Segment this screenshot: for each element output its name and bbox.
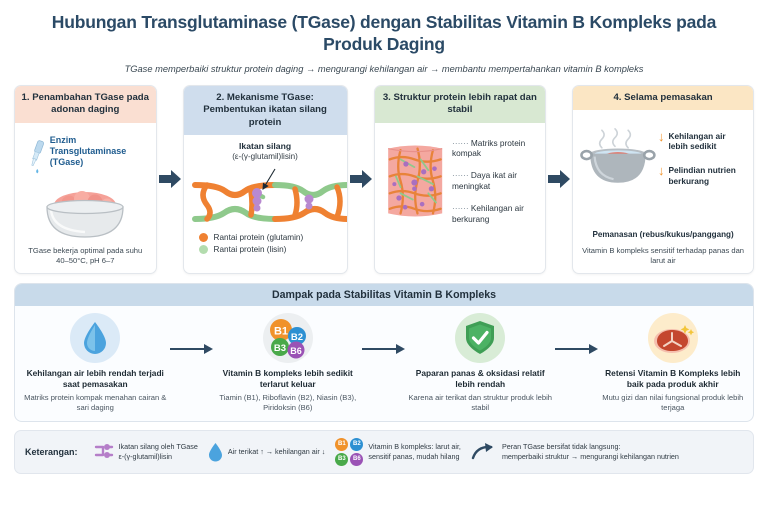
svg-text:B3: B3 [274, 343, 286, 354]
impact-desc: Matriks protein kompak menahan cairan & … [21, 393, 170, 413]
legend-crosslink-line2: ε-(γ-glutamil)lisin [119, 452, 198, 461]
down-arrow-icon: ↓ [658, 165, 665, 177]
impact-title: Vitamin B kompleks lebih sedikit terlaru… [214, 368, 363, 390]
vitamin-chip-b6: B6 [350, 453, 363, 466]
arrow-right-icon [159, 170, 181, 188]
impact-connector-2 [362, 313, 406, 355]
panel-2-heading: 2. Mekanisme TGase: Pembentukan ikatan s… [184, 86, 347, 135]
panel-4-during-cooking: 4. Selama pemasakan [572, 85, 754, 274]
panel-3-note-1: ⋯⋯ Matriks protein kompak [452, 138, 538, 159]
title-block: Hubungan Transglutaminase (TGase) dengan… [0, 0, 768, 75]
water-drop-icon [208, 442, 223, 462]
legend-vitamin-line1: Vitamin B kompleks: larut air, [368, 442, 461, 451]
crosslink-label: Ikatan silang [191, 141, 340, 152]
panel-4-note-1: ↓ Kehilangan air lebih sedikit [658, 131, 746, 152]
arrow-right-icon [548, 170, 570, 188]
impact-title: Retensi Vitamin B Kompleks lebih baik pa… [599, 368, 748, 390]
legend-label-lisin: Rantai protein (lisin) [214, 245, 287, 254]
crosslink-formula: (ε-(γ-glutamil)lisin) [191, 152, 340, 161]
page-title: Hubungan Transglutaminase (TGase) dengan… [40, 11, 728, 56]
connector-1-2 [157, 85, 183, 274]
vitamin-chip-b3: B3 [335, 453, 348, 466]
legend-crosslink-line1: Ikatan silang oleh TGase [119, 442, 198, 451]
impact-desc: Karena air terikat dan struktur produk l… [406, 393, 555, 413]
protein-crosslink-diagram [191, 163, 348, 231]
connector-2-3 [348, 85, 374, 274]
impact-section: Dampak pada Stabilitas Vitamin B Komplek… [14, 283, 754, 422]
arrow-right-icon [555, 343, 599, 355]
water-drop-circle [70, 313, 120, 363]
vitamin-cluster-icon: B1 B2 B3 B6 [267, 317, 309, 359]
impact-item-heat-oxidation: Paparan panas & oksidasi relatif lebih r… [406, 313, 555, 413]
arrow-right-icon [350, 170, 372, 188]
dropper-icon [24, 131, 48, 183]
legend-label-glutamin: Rantai protein (glutamin) [214, 233, 304, 242]
panel-4-note-2: ↓ Pelindian nutrien berkurang [658, 165, 746, 186]
impact-item-final-product: Retensi Vitamin B Kompleks lebih baik pa… [599, 313, 748, 413]
panel-1-caption: TGase bekerja optimal pada suhu 40–50°C,… [22, 243, 149, 266]
enzyme-label: Enzim Transglutaminase (TGase) [50, 131, 149, 169]
vitamin-chip-b1: B1 [335, 438, 348, 451]
panel-1-heading: 1. Penambahan TGase pada adonan daging [15, 86, 156, 123]
stage-row: 1. Penambahan TGase pada adonan daging E… [14, 85, 754, 274]
panel-4-notes: ↓ Kehilangan air lebih sedikit ↓ Pelindi… [658, 131, 746, 186]
legend-item-tgase-role: Peran TGase bersifat tidak langsung: mem… [471, 442, 679, 462]
impact-desc: Mutu gizi dan nilai fungsional produk le… [599, 393, 748, 413]
page-subtitle: TGase memperbaiki struktur protein dagin… [40, 63, 728, 75]
legend-title: Keterangan: [25, 447, 84, 457]
svg-text:B1: B1 [274, 325, 288, 337]
legend-water-text: Air terikat ↑ → kehilangan air ↓ [228, 447, 325, 456]
meat-bowl-icon [37, 179, 133, 243]
panel-3-notes: ⋯⋯ Matriks protein kompak ⋯⋯ Daya ikat a… [452, 138, 538, 224]
water-drop-icon [82, 321, 108, 355]
arrow-right-icon [362, 343, 406, 355]
panel-4-caption-bold: Pemanasan (rebus/kukus/panggang) [580, 227, 746, 241]
impact-title: Kehilangan air lebih rendah terjadi saat… [21, 368, 170, 390]
legend-footer: Keterangan: Ikatan silang oleh TGase ε-(… [14, 430, 754, 474]
legend-role-line1: Peran TGase bersifat tidak langsung: [502, 442, 679, 451]
panel-3-note-3: ⋯⋯ Kehilangan air berkurang [452, 203, 538, 224]
lisin-dot-icon [199, 245, 208, 254]
legend-item-glutamin: Rantai protein (glutamin) [199, 233, 340, 242]
panel-2-crosslink-mechanism: 2. Mekanisme TGase: Pembentukan ikatan s… [183, 85, 348, 274]
meat-steak-circle [648, 313, 698, 363]
impact-desc: Tiamin (B1), Riboflavin (B2), Niasin (B3… [214, 393, 363, 413]
infographic-root: Hubungan Transglutaminase (TGase) dengan… [0, 0, 768, 512]
svg-text:B6: B6 [290, 346, 302, 356]
glutamin-dot-icon [199, 233, 208, 242]
legend-item-vitamins: B1 B2 B3 B6 Vitamin B kompleks: larut ai… [335, 438, 461, 466]
shield-check-icon [464, 320, 496, 356]
impact-connector-1 [170, 313, 214, 355]
panel-3-dense-structure: 3. Struktur protein lebih rapat dan stab… [374, 85, 547, 274]
impact-connector-3 [555, 313, 599, 355]
panel-1-tgase-addition: 1. Penambahan TGase pada adonan daging E… [14, 85, 157, 274]
panel-4-caption: Vitamin B kompleks sensitif terhadap pan… [580, 243, 746, 266]
impact-heading: Dampak pada Stabilitas Vitamin B Komplek… [15, 284, 753, 306]
vitamin-chip-b2: B2 [350, 438, 363, 451]
impact-item-water-loss: Kehilangan air lebih rendah terjadi saat… [21, 313, 170, 413]
vitamin-cluster-circle: B1 B2 B3 B6 [263, 313, 313, 363]
connector-3-4 [546, 85, 572, 274]
vitamin-chips-icon: B1 B2 B3 B6 [335, 438, 363, 466]
panel-3-heading: 3. Struktur protein lebih rapat dan stab… [375, 86, 546, 123]
panel-4-heading: 4. Selama pemasakan [573, 86, 753, 110]
protein-matrix-icon [382, 129, 448, 233]
impact-title: Paparan panas & oksidasi relatif lebih r… [406, 368, 555, 390]
meat-steak-icon [652, 321, 694, 355]
legend-item-water: Air terikat ↑ → kehilangan air ↓ [208, 442, 325, 462]
legend-role-line2: memperbaiki struktur → mengurangi kehila… [502, 452, 679, 461]
legend-item-crosslink: Ikatan silang oleh TGase ε-(γ-glutamil)l… [94, 442, 198, 461]
svg-text:B2: B2 [291, 332, 303, 343]
arrow-right-icon [170, 343, 214, 355]
legend-item-lisin: Rantai protein (lisin) [199, 245, 340, 254]
shield-check-circle [455, 313, 505, 363]
crosslink-icon [94, 443, 114, 461]
legend-vitamin-line2: sensitif panas, mudah hilang [368, 452, 461, 461]
panel-2-legend: Rantai protein (glutamin) Rantai protein… [191, 233, 340, 257]
curved-arrow-icon [471, 442, 497, 462]
down-arrow-icon: ↓ [658, 131, 665, 143]
impact-item-vitamin-retention: B1 B2 B3 B6 Vitamin B kompleks lebih sed… [214, 313, 363, 413]
cooking-pot-icon [580, 116, 656, 200]
panel-3-note-2: ⋯⋯ Daya ikat air meningkat [452, 170, 538, 191]
